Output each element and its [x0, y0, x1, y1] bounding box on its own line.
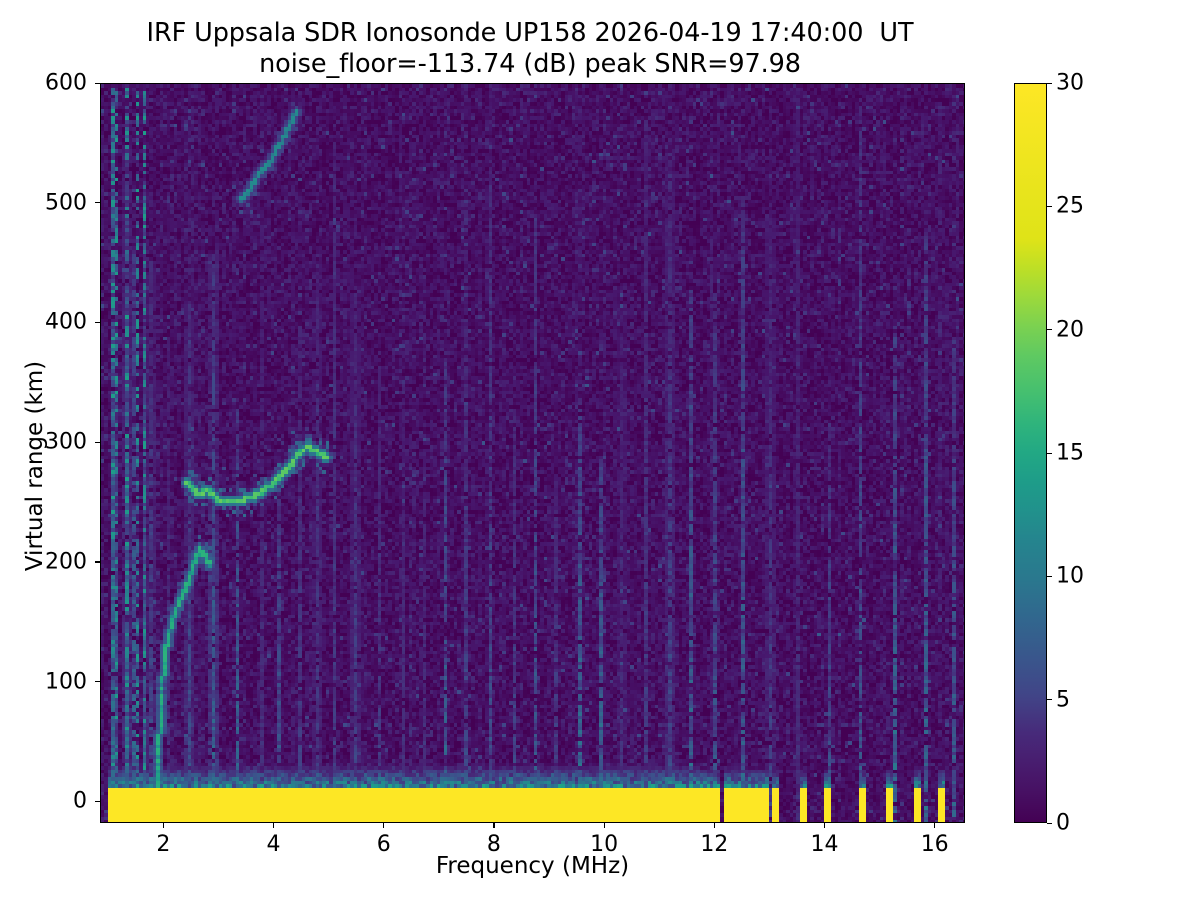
- x-tick-mark: [714, 823, 715, 828]
- y-tick-mark: [95, 442, 100, 443]
- colorbar-tick-label: 0: [1056, 811, 1070, 836]
- title-line-secondary: noise_floor=-113.74 (dB) peak SNR=97.98: [0, 49, 1060, 80]
- x-axis-label: Frequency (MHz): [100, 853, 965, 879]
- y-tick-mark: [95, 322, 100, 323]
- colorbar-tick-mark: [1047, 823, 1052, 824]
- x-tick-mark: [273, 823, 274, 828]
- colorbar-tick-mark: [1047, 699, 1052, 700]
- colorbar-tick-label: 15: [1056, 441, 1084, 466]
- colorbar-tick-label: 5: [1056, 687, 1070, 712]
- y-tick-mark: [95, 202, 100, 203]
- ionogram-plot-area[interactable]: [100, 83, 965, 823]
- figure-title: IRF Uppsala SDR Ionosonde UP158 2026-04-…: [0, 18, 1060, 80]
- colorbar-tick-mark: [1047, 206, 1052, 207]
- x-tick-mark: [163, 823, 164, 828]
- title-line-primary: IRF Uppsala SDR Ionosonde UP158 2026-04-…: [0, 18, 1060, 49]
- x-tick-mark: [934, 823, 935, 828]
- ionogram-figure: IRF Uppsala SDR Ionosonde UP158 2026-04-…: [0, 0, 1200, 900]
- x-tick-mark: [604, 823, 605, 828]
- y-tick-mark: [95, 561, 100, 562]
- snr-colorbar[interactable]: [1014, 83, 1047, 823]
- x-tick-mark: [824, 823, 825, 828]
- colorbar-tick-mark: [1047, 453, 1052, 454]
- colorbar-tick-label: 25: [1056, 194, 1084, 219]
- y-tick-mark: [95, 83, 100, 84]
- y-tick-mark: [95, 801, 100, 802]
- x-tick-mark: [383, 823, 384, 828]
- colorbar-tick-mark: [1047, 83, 1052, 84]
- colorbar-tick-label: 20: [1056, 317, 1084, 342]
- colorbar-tick-label: 10: [1056, 564, 1084, 589]
- colorbar-tick-label: 30: [1056, 71, 1084, 96]
- x-tick-mark: [493, 823, 494, 828]
- colorbar-tick-mark: [1047, 329, 1052, 330]
- y-tick-label: 600: [5, 71, 87, 96]
- y-tick-mark: [95, 681, 100, 682]
- colorbar-tick-mark: [1047, 576, 1052, 577]
- ionogram-heatmap-canvas[interactable]: [101, 84, 965, 823]
- y-axis-label: Virtual range (km): [22, 96, 48, 836]
